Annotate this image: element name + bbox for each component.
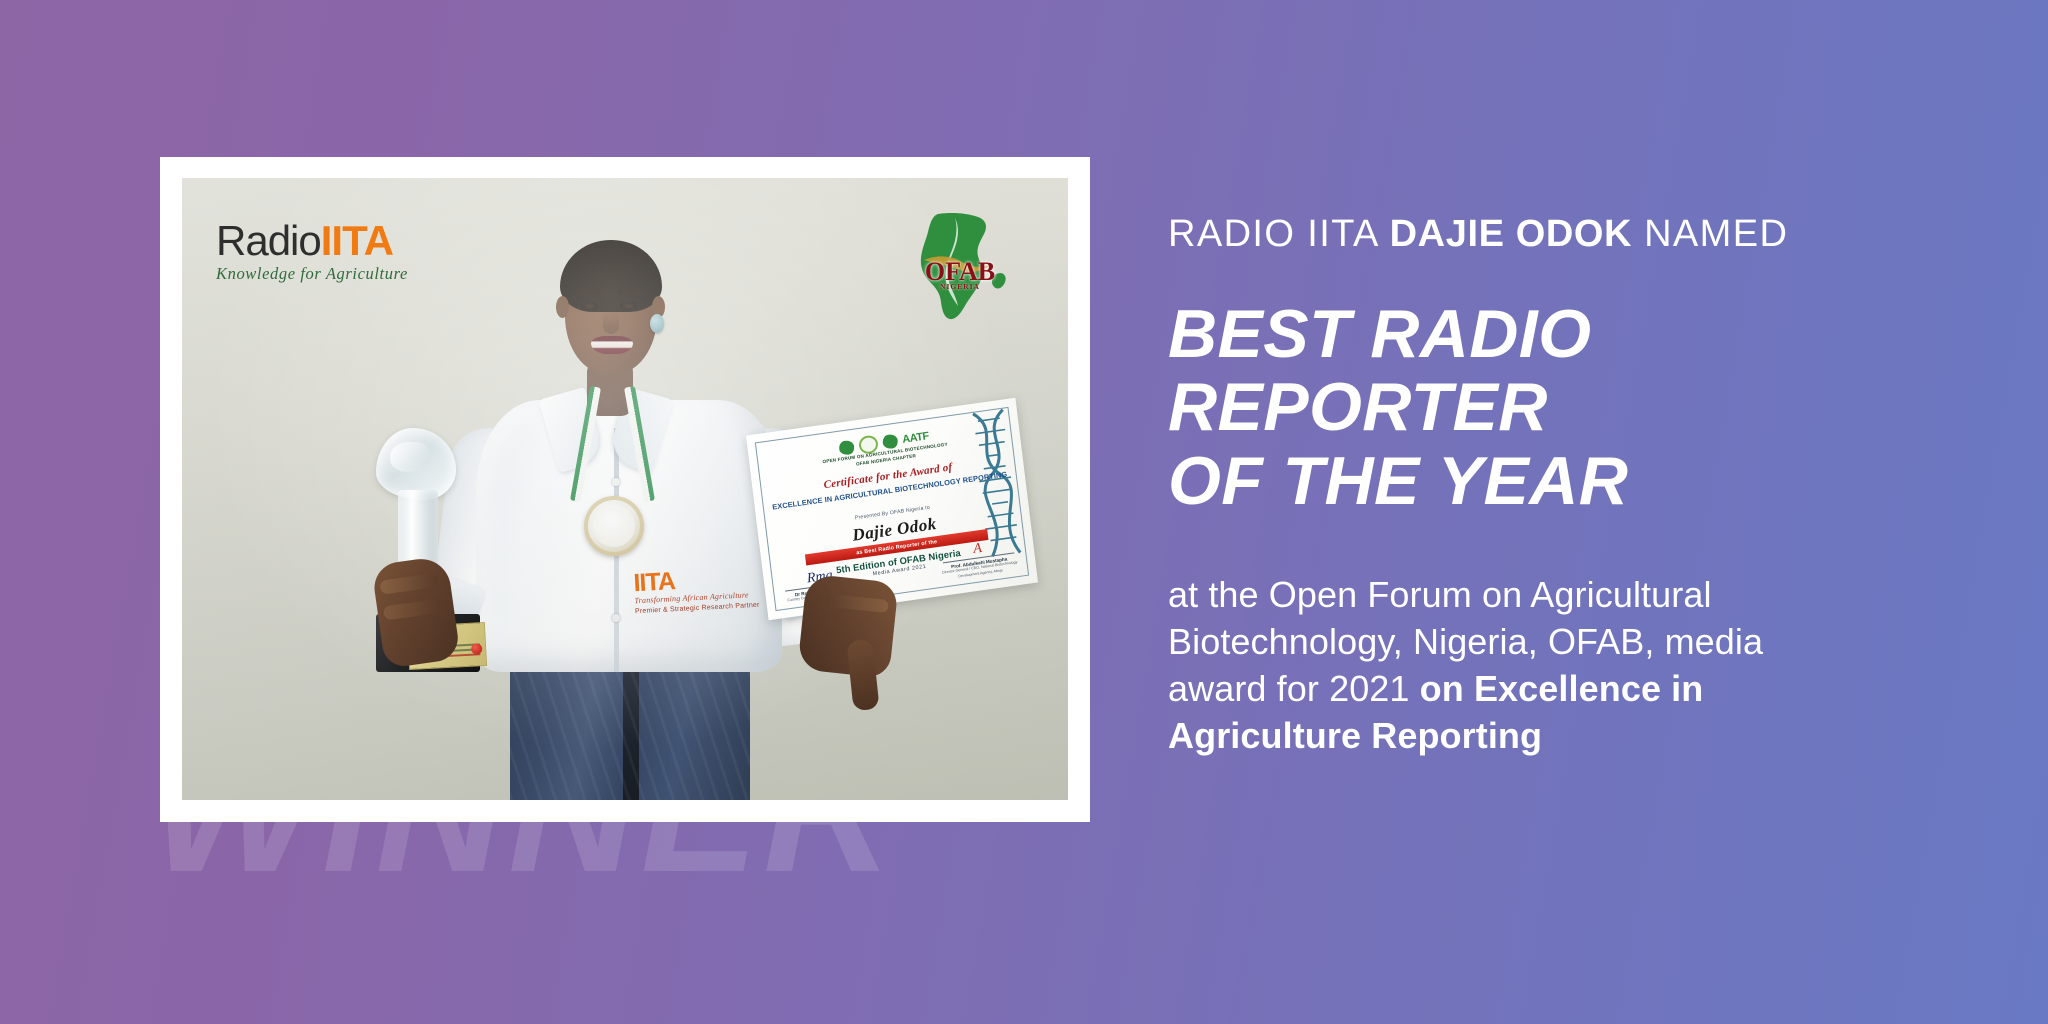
certificate-africa-icon [838, 440, 855, 456]
ofab-logo: OFAB NIGERIA [908, 210, 1012, 322]
shirt-iita-logo: IITA Transforming African Agriculture Pr… [633, 565, 760, 615]
shirt-button [612, 478, 620, 486]
hair [560, 240, 662, 312]
shirt-button [612, 614, 620, 622]
headline-line-2: REPORTER [1168, 371, 1868, 444]
award-medal [584, 496, 644, 556]
eyebrow-suffix: NAMED [1632, 213, 1788, 255]
announcement-text-column: RADIO IITA DAJIE ODOK NAMED BEST RADIO R… [1168, 214, 1868, 759]
certificate-aatf-label: AATF [902, 430, 930, 446]
trophy-plaque-seal [471, 643, 483, 655]
photo-frame: RadioIITA Knowledge for Agriculture OFAB… [160, 157, 1090, 822]
radio-iita-tagline: Knowledge for Agriculture [216, 266, 408, 283]
nose [603, 312, 619, 334]
certificate-leaf-icon [882, 434, 899, 450]
headline-line-3: OF THE YEAR [1168, 445, 1868, 518]
smiling-mouth [591, 336, 633, 354]
radio-iita-word-iita: IITA [321, 217, 393, 264]
eye-left [580, 302, 599, 311]
ofab-country-label: NIGERIA [908, 282, 1012, 291]
award-certificate: AATF OPEN FORUM ON AGRICULTURAL BIOTECHN… [746, 398, 1038, 620]
page-title: BEST RADIO REPORTER OF THE YEAR [1168, 298, 1868, 518]
announcement-body-text: at the Open Forum on Agricultural Biotec… [1168, 572, 1858, 759]
radio-iita-logo: RadioIITA Knowledge for Agriculture [216, 220, 408, 283]
headline-line-1: BEST RADIO [1168, 298, 1868, 371]
earring [650, 314, 664, 333]
eye-right [619, 302, 638, 311]
award-winner-photo: RadioIITA Knowledge for Agriculture OFAB… [182, 178, 1068, 800]
eyebrow-prefix: RADIO IITA [1168, 213, 1390, 255]
radio-iita-word-radio: Radio [216, 217, 321, 264]
ear-left [556, 296, 569, 318]
radio-iita-wordmark: RadioIITA [216, 220, 408, 262]
award-announcement-poster: WINNER RadioIITA Knowledge for Agricultu… [0, 0, 2048, 1024]
eyebrow-headline: RADIO IITA DAJIE ODOK NAMED [1168, 214, 1868, 256]
eyebrow-name: DAJIE ODOK [1390, 213, 1632, 255]
